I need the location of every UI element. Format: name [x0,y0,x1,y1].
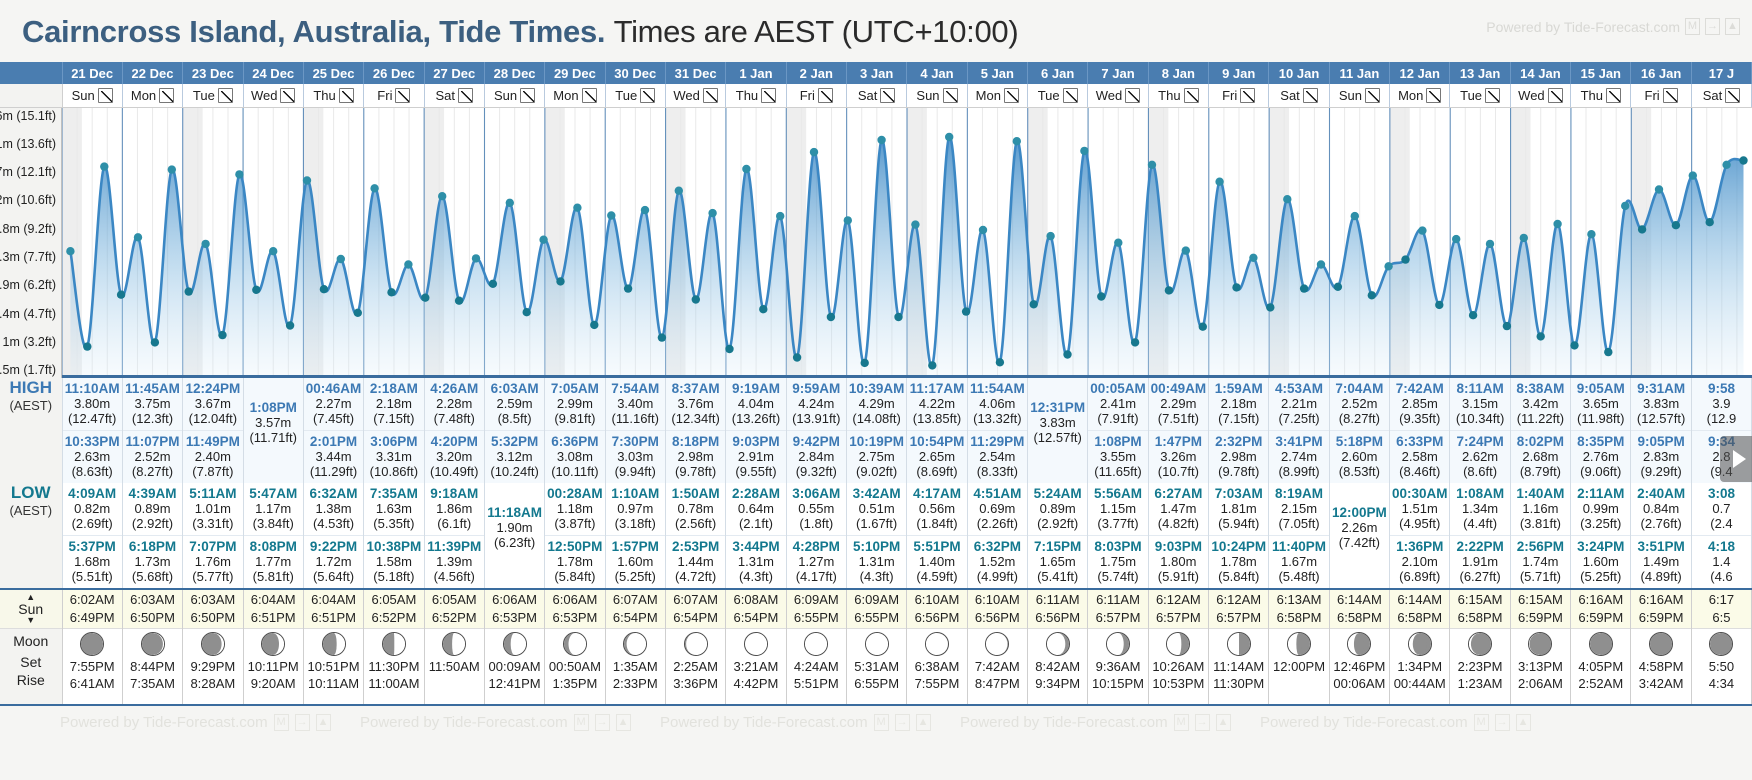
tide-event: 4:20PM3.20m(10.49ft) [425,430,484,483]
low-tide-cell-23[interactable]: 1:08AM1.34m(4.4ft)2:22PM1.91m(6.27ft) [1450,483,1510,589]
tide-height-ft: (3.31ft) [183,516,242,531]
high-tide-cell-18[interactable]: 00:49AM2.29m(7.51ft)1:47PM3.26m(10.7ft) [1148,378,1208,483]
date-header-4[interactable]: 25 Dec [303,62,363,84]
tide-event: 5:37PM1.68m(5.51ft) [63,535,122,588]
expand-icon[interactable] [520,88,535,103]
chart-plot-cell[interactable] [62,107,1752,378]
day-header-3[interactable]: Wed [243,84,303,107]
moon-phase-icon [925,632,949,656]
high-tide-cell-25[interactable]: 9:05AM3.65m(11.98ft)8:35PM2.76m(9.06ft) [1571,378,1631,483]
high-tide-cell-22[interactable]: 7:42AM2.85m(9.35ft)6:33PM2.58m(8.46ft) [1390,378,1450,483]
day-header-1[interactable]: Mon [122,84,182,107]
date-header-11[interactable]: 1 Jan [726,62,786,84]
low-tide-cell-5[interactable]: 7:35AM1.63m(5.35ft)10:38PM1.58m(5.18ft) [364,483,424,589]
expand-icon[interactable] [1485,88,1500,103]
tide-event: 5:32PM3.12m(10.24ft) [485,430,544,483]
sun-cell-6: 6:05AM6:52PM [424,589,484,629]
scroll-right-button[interactable] [1720,436,1752,482]
tide-time: 11:29PM [968,434,1027,449]
moonset-time: 00:50AM [545,658,604,675]
tide-event: 8:08PM1.77m(5.81ft) [244,535,303,588]
tide-height-ft: (12.47ft) [63,411,122,426]
tide-height-m: 1.86m [425,501,484,516]
low-tide-cell-0[interactable]: 4:09AM0.82m(2.69ft)5:37PM1.68m(5.51ft) [62,483,122,589]
tide-height-m: 2.85m [1390,396,1449,411]
tide-time: 9:19AM [726,381,785,396]
day-header-0[interactable]: Sun [62,84,122,107]
low-tide-cell-10[interactable]: 1:50AM0.78m(2.56ft)2:53PM1.44m(4.72ft) [665,483,725,589]
tide-time: 10:19PM [847,434,906,449]
moonrise-time: 1:23AM [1450,675,1509,692]
date-header-25[interactable]: 15 Jan [1571,62,1631,84]
moonrise-time: 2:06AM [1511,675,1570,692]
tide-time: 1:50AM [666,486,725,501]
tide-event: 2:28AM0.64m(2.1ft) [726,483,785,535]
moonrise-time: 10:11AM [304,675,363,692]
tide-height-ft: (5.77ft) [183,569,242,584]
expand-icon[interactable] [1548,88,1563,103]
high-tide-cell-15[interactable]: 11:54AM4.06m(13.32ft)11:29PM2.54m(8.33ft… [967,378,1027,483]
sun-cell-11: 6:08AM6:54PM [726,589,786,629]
tide-height-ft: (5.64ft) [304,569,363,584]
tide-event: 11:18AM1.90m(6.23ft) [485,483,544,554]
tide-event: 11:40PM1.67m(5.48ft) [1269,535,1328,588]
day-header-26[interactable]: Fri [1631,84,1691,107]
low-tide-cell-4[interactable]: 6:32AM1.38m(4.53ft)9:22PM1.72m(5.64ft) [303,483,363,589]
day-header-21[interactable]: Sun [1329,84,1389,107]
tide-event: 7:07PM1.76m(5.77ft) [183,535,242,588]
expand-icon[interactable] [458,88,473,103]
tide-event: 7:30PM3.03m(9.94ft) [606,430,665,483]
expand-icon[interactable] [1303,88,1318,103]
low-tide-cell-14[interactable]: 4:17AM0.56m(1.84ft)5:51PM1.40m(4.59ft) [907,483,967,589]
tide-time: 8:03PM [1088,539,1147,554]
tide-height-m: 3.20m [425,449,484,464]
high-tide-cell-16[interactable]: 12:31PM3.83m(12.57ft) [1028,378,1088,483]
date-header-17[interactable]: 7 Jan [1088,62,1148,84]
high-tide-cell-17[interactable]: 00:05AM2.41m(7.91ft)1:08PM3.55m(11.65ft) [1088,378,1148,483]
date-header-15[interactable]: 5 Jan [967,62,1027,84]
tide-height-ft: (7.87ft) [183,464,242,479]
tide-time: 6:27AM [1149,486,1208,501]
tide-event: 12:31PM3.83m(12.57ft) [1028,378,1087,449]
high-tide-cell-2[interactable]: 12:24PM3.67m(12.04ft)11:49PM2.40m(7.87ft… [183,378,243,483]
day-header-5[interactable]: Fri [364,84,424,107]
expand-icon[interactable] [640,88,655,103]
sunset-time: 6:53PM [545,609,604,627]
high-tide-cell-12[interactable]: 9:59AM4.24m(13.91ft)9:42PM2.84m(9.32ft) [786,378,846,483]
tide-time: 5:11AM [183,486,242,501]
watermark-icon-arrow: → [1195,714,1210,731]
expand-icon[interactable] [280,88,295,103]
tide-height-m: 2.91m [726,449,785,464]
y-axis-tick-0: 4.6m (15.1ft) [0,109,56,123]
low-tide-cell-22[interactable]: 00:30AM1.51m(4.95ft)1:36PM2.10m(6.89ft) [1390,483,1450,589]
sunset-time: 6:58PM [1450,609,1509,627]
tide-height-ft: (13.85ft) [907,411,966,426]
tide-event: 8:18PM2.98m(9.78ft) [666,430,725,483]
high-tide-cell-11[interactable]: 9:19AM4.04m(13.26ft)9:03PM2.91m(9.55ft) [726,378,786,483]
tide-event: 1:08PM3.57m(11.71ft) [244,378,303,449]
high-tide-cell-0[interactable]: 11:10AM3.80m(12.47ft)10:33PM2.63m(8.63ft… [62,378,122,483]
day-header-17[interactable]: Wed [1088,84,1148,107]
date-header-row: 21 Dec22 Dec23 Dec24 Dec25 Dec26 Dec27 D… [0,62,1752,84]
expand-icon[interactable] [218,88,233,103]
moon-phase-icon [1347,632,1371,656]
tide-event: 6:36PM3.08m(10.11ft) [545,430,604,483]
moonset-time: 10:51PM [304,658,363,675]
moonset-time: 2:23PM [1450,658,1509,675]
moon-cell-18: 10:26AM10:53PM [1148,629,1208,704]
tide-height-m: 2.98m [1209,449,1268,464]
high-tide-cell-26[interactable]: 9:31AM3.83m(12.57ft)9:05PM2.83m(9.29ft) [1631,378,1691,483]
tide-time: 00:05AM [1088,381,1147,396]
high-tide-cell-10[interactable]: 8:37AM3.76m(12.34ft)8:18PM2.98m(9.78ft) [665,378,725,483]
low-tide-cell-21[interactable]: 12:00PM2.26m(7.42ft) [1329,483,1389,589]
tide-height-m: 0.64m [726,501,785,516]
tide-height-ft: (5.25ft) [1571,569,1630,584]
expand-icon[interactable] [1063,88,1078,103]
tide-height-ft: (2.69ft) [63,516,122,531]
moon-cell-20: 12:00PM [1269,629,1329,704]
date-header-27[interactable]: 17 J [1691,62,1751,84]
high-tide-cell-1[interactable]: 11:45AM3.75m(12.3ft)11:07PM2.52m(8.27ft) [122,378,182,483]
tide-time: 3:41PM [1269,434,1328,449]
date-header-1[interactable]: 22 Dec [122,62,182,84]
date-header-7[interactable]: 28 Dec [484,62,544,84]
date-header-19[interactable]: 9 Jan [1209,62,1269,84]
tide-height-m: 2.75m [847,449,906,464]
day-header-19[interactable]: Fri [1209,84,1269,107]
sunset-time: 6:53PM [485,609,544,627]
date-header-14[interactable]: 4 Jan [907,62,967,84]
tide-time: 9:58 [1692,381,1751,396]
tide-time: 9:03PM [726,434,785,449]
day-name-label: Sun [1339,88,1362,103]
low-tide-label-unit: (AEST) [0,503,62,518]
tide-event: 1:59AM2.18m(7.15ft) [1209,378,1268,430]
tide-time: 4:20PM [425,434,484,449]
tide-height-ft: (4.53ft) [304,516,363,531]
low-tide-cell-20[interactable]: 8:19AM2.15m(7.05ft)11:40PM1.67m(5.48ft) [1269,483,1329,589]
tide-height-m: 2.59m [485,396,544,411]
low-tide-cell-26[interactable]: 2:40AM0.84m(2.76ft)3:51PM1.49m(4.89ft) [1631,483,1691,589]
header-watermark-text: Powered by Tide-Forecast.com [1486,19,1680,35]
tide-event: 4:26AM2.28m(7.48ft) [425,378,484,430]
high-tide-cell-8[interactable]: 7:05AM2.99m(9.81ft)6:36PM3.08m(10.11ft) [545,378,605,483]
date-header-21[interactable]: 11 Jan [1329,62,1389,84]
sunset-time: 6:49PM [63,609,122,627]
date-header-22[interactable]: 12 Jan [1390,62,1450,84]
tide-height-ft: (4.56ft) [425,569,484,584]
tide-height-m: 1.51m [1390,501,1449,516]
moon-phase-icon [1589,632,1613,656]
expand-icon[interactable] [1365,88,1380,103]
moon-cell-9: 1:35AM2:33PM [605,629,665,704]
tide-time: 12:31PM [1028,400,1087,415]
low-tide-cell-24[interactable]: 1:40AM1.16m(3.81ft)2:56PM1.74m(5.71ft) [1510,483,1570,589]
tide-event: 8:11AM3.15m(10.34ft) [1450,378,1509,430]
low-tide-cell-18[interactable]: 6:27AM1.47m(4.82ft)9:03PM1.80m(5.91ft) [1148,483,1208,589]
moon-cell-26: 4:58PM3:42AM [1631,629,1691,704]
low-tide-cell-25[interactable]: 2:11AM0.99m(3.25ft)3:24PM1.60m(5.25ft) [1571,483,1631,589]
high-tide-cell-20[interactable]: 4:53AM2.21m(7.25ft)3:41PM2.74m(8.99ft) [1269,378,1329,483]
high-tide-cell-4[interactable]: 00:46AM2.27m(7.45ft)2:01PM3.44m(11.29ft) [303,378,363,483]
date-header-26[interactable]: 16 Jan [1631,62,1691,84]
sun-cell-24: 6:15AM6:59PM [1510,589,1570,629]
day-header-24[interactable]: Wed [1510,84,1570,107]
moonrise-time: 3:42AM [1631,675,1690,692]
day-header-16[interactable]: Tue [1028,84,1088,107]
tide-height-m: 3.31m [364,449,423,464]
expand-icon[interactable] [1125,88,1140,103]
tide-event: 12:24PM3.67m(12.04ft) [183,378,242,430]
date-header-24[interactable]: 14 Jan [1510,62,1570,84]
tide-height-m: 1.77m [244,554,303,569]
high-tide-cell-19[interactable]: 1:59AM2.18m(7.15ft)2:32PM2.98m(9.78ft) [1209,378,1269,483]
tide-time: 5:24AM [1028,486,1087,501]
tide-height-ft: (2.1ft) [726,516,785,531]
tide-height-ft: (9.32ft) [787,464,846,479]
moon-cell-3: 10:11PM9:20AM [243,629,303,704]
tide-event: 10:33PM2.63m(8.63ft) [63,430,122,483]
tide-height-ft: (12.57ft) [1631,411,1690,426]
tide-event: 8:19AM2.15m(7.05ft) [1269,483,1328,535]
expand-icon[interactable] [818,88,833,103]
day-header-10[interactable]: Wed [665,84,725,107]
tide-height-ft: (8.63ft) [63,464,122,479]
moonset-time: 11:30PM [364,658,423,675]
high-tide-cell-24[interactable]: 8:38AM3.42m(11.22ft)8:02PM2.68m(8.79ft) [1510,378,1570,483]
moon-cell-27: 5:504:34 [1691,629,1751,704]
sunset-time: 6:57PM [1209,609,1268,627]
day-name-label: Mon [553,88,578,103]
moon-phase-icon [1166,632,1190,656]
sunset-time: 6:56PM [1028,609,1087,627]
tide-height-m: 0.69m [968,501,1027,516]
low-tide-cell-9[interactable]: 1:10AM0.97m(3.18ft)1:57PM1.60m(5.25ft) [605,483,665,589]
moonrise-time: 11:00AM [364,675,423,692]
day-header-22[interactable]: Mon [1390,84,1450,107]
tide-height-ft: (12.3ft) [123,411,182,426]
moonset-time: 7:42AM [968,658,1027,675]
day-header-4[interactable]: Thu [303,84,363,107]
sunrise-time: 6:06AM [485,591,544,609]
date-header-5[interactable]: 26 Dec [364,62,424,84]
expand-icon[interactable] [761,88,776,103]
day-header-2[interactable]: Tue [183,84,243,107]
day-name-label: Wed [1518,88,1545,103]
date-header-18[interactable]: 8 Jan [1148,62,1208,84]
tide-height-ft: (6.27ft) [1450,569,1509,584]
tide-time: 1:57PM [606,539,665,554]
day-header-23[interactable]: Tue [1450,84,1510,107]
tide-height-ft: (5.74ft) [1088,569,1147,584]
watermark-icon-m: M [274,714,289,731]
low-tide-cell-8[interactable]: 00:28AM1.18m(3.87ft)12:50PM1.78m(5.84ft) [545,483,605,589]
low-tide-cell-2[interactable]: 5:11AM1.01m(3.31ft)7:07PM1.76m(5.77ft) [183,483,243,589]
sunset-time: 6:57PM [1149,609,1208,627]
moon-phase-icon [442,632,466,656]
date-header-6[interactable]: 27 Dec [424,62,484,84]
tide-time: 2:11AM [1571,486,1630,501]
moon-phase-icon [563,632,587,656]
high-tide-cell-3[interactable]: 1:08PM3.57m(11.71ft) [243,378,303,483]
tide-height-m: 2.83m [1631,449,1690,464]
tide-height-m: 2.52m [1330,396,1389,411]
high-tide-cell-5[interactable]: 2:18AM2.18m(7.15ft)3:06PM3.31m(10.86ft) [364,378,424,483]
moon-cell-5: 11:30PM11:00AM [364,629,424,704]
day-name-label: Tue [1038,88,1060,103]
tide-height-ft: (9.35ft) [1390,411,1449,426]
tide-height-ft: (7.25ft) [1269,411,1328,426]
tide-height-ft: (8.27ft) [1330,411,1389,426]
tide-height-ft: (7.91ft) [1088,411,1147,426]
low-tide-cell-19[interactable]: 7:03AM1.81m(5.94ft)10:24PM1.78m(5.84ft) [1209,483,1269,589]
tide-height-ft: (8.27ft) [123,464,182,479]
moon-cell-14: 6:38AM7:55PM [907,629,967,704]
day-header-15[interactable]: Mon [967,84,1027,107]
day-header-20[interactable]: Sat [1269,84,1329,107]
low-tide-cell-1[interactable]: 4:39AM0.89m(2.92ft)6:18PM1.73m(5.68ft) [122,483,182,589]
tide-height-m: 1.44m [666,554,725,569]
moonset-time: 9:36AM [1088,658,1147,675]
moon-phase-icon [201,632,225,656]
tide-time: 12:50PM [545,539,604,554]
day-header-14[interactable]: Sun [907,84,967,107]
day-header-27[interactable]: Sat [1691,84,1751,107]
day-name-label: Wed [251,88,278,103]
tide-event: 3:06AM0.55m(1.8ft) [787,483,846,535]
tide-time: 7:04AM [1330,381,1389,396]
expand-icon[interactable] [1240,88,1255,103]
day-header-9[interactable]: Tue [605,84,665,107]
expand-icon[interactable] [703,88,718,103]
date-header-3[interactable]: 24 Dec [243,62,303,84]
date-header-8[interactable]: 29 Dec [545,62,605,84]
day-header-12[interactable]: Fri [786,84,846,107]
date-header-0[interactable]: 21 Dec [62,62,122,84]
expand-icon[interactable] [943,88,958,103]
expand-icon[interactable] [159,88,174,103]
moon-phase-icon [322,632,346,656]
date-header-20[interactable]: 10 Jan [1269,62,1329,84]
low-tide-cell-13[interactable]: 3:42AM0.51m(1.67ft)5:10PM1.31m(4.3ft) [846,483,906,589]
expand-icon[interactable] [98,88,113,103]
tide-height-m: 3.57m [244,415,303,430]
tide-height-ft: (7.45ft) [304,411,363,426]
expand-icon[interactable] [1004,88,1019,103]
watermark-icon-a: ▲ [916,714,931,731]
expand-icon[interactable] [395,88,410,103]
tide-height-m: 1.52m [968,554,1027,569]
low-tide-cell-11[interactable]: 2:28AM0.64m(2.1ft)3:44PM1.31m(4.3ft) [726,483,786,589]
chart-row: 4.6m (15.1ft)4.1m (13.6ft)3.7m (12.1ft)3… [0,107,1752,378]
high-tide-cell-14[interactable]: 11:17AM4.22m(13.85ft)10:54PM2.65m(8.69ft… [907,378,967,483]
tide-time: 4:39AM [123,486,182,501]
chart-y-axis-cell: 4.6m (15.1ft)4.1m (13.6ft)3.7m (12.1ft)3… [0,107,62,378]
low-tide-cell-16[interactable]: 5:24AM0.89m(2.92ft)7:15PM1.65m(5.41ft) [1028,483,1088,589]
tide-event: 00:05AM2.41m(7.91ft) [1088,378,1147,430]
day-header-8[interactable]: Mon [545,84,605,107]
moon-cell-13: 5:31AM6:55PM [846,629,906,704]
expand-icon[interactable] [1663,88,1678,103]
high-tide-cell-6[interactable]: 4:26AM2.28m(7.48ft)4:20PM3.20m(10.49ft) [424,378,484,483]
tide-event: 8:38AM3.42m(11.22ft) [1511,378,1570,430]
tide-event: 9:59AM4.24m(13.91ft) [787,378,846,430]
low-tide-cell-15[interactable]: 4:51AM0.69m(2.26ft)6:32PM1.52m(4.99ft) [967,483,1027,589]
expand-icon[interactable] [1426,88,1441,103]
day-name-label: Sun [916,88,939,103]
tide-height-m: 1.90m [485,520,544,535]
date-header-9[interactable]: 30 Dec [605,62,665,84]
day-name-label: Fri [1222,88,1237,103]
date-header-16[interactable]: 6 Jan [1028,62,1088,84]
expand-icon[interactable] [339,88,354,103]
moonset-time: 8:44PM [123,658,182,675]
low-tide-cell-3[interactable]: 5:47AM1.17m(3.84ft)8:08PM1.77m(5.81ft) [243,483,303,589]
sunrise-time: 6:09AM [787,591,846,609]
day-header-13[interactable]: Sat [846,84,906,107]
tide-event: 7:35AM1.63m(5.35ft) [364,483,423,535]
low-tide-cell-27[interactable]: 3:080.7(2.44:181.4(4.6 [1691,483,1751,589]
expand-icon[interactable] [880,88,895,103]
tide-height-m: 2.10m [1390,554,1449,569]
date-header-10[interactable]: 31 Dec [665,62,725,84]
footer-watermark-text: Powered by Tide-Forecast.com [360,714,568,731]
watermark-icon-m: M [574,714,589,731]
day-header-18[interactable]: Thu [1148,84,1208,107]
day-header-11[interactable]: Thu [726,84,786,107]
date-header-13[interactable]: 3 Jan [846,62,906,84]
expand-icon[interactable] [1725,88,1740,103]
tide-height-ft: (5.41ft) [1028,569,1087,584]
low-tide-cell-12[interactable]: 3:06AM0.55m(1.8ft)4:28PM1.27m(4.17ft) [786,483,846,589]
high-tide-cell-21[interactable]: 7:04AM2.52m(8.27ft)5:18PM2.60m(8.53ft) [1329,378,1389,483]
tide-height-ft: (4.82ft) [1149,516,1208,531]
date-header-2[interactable]: 23 Dec [183,62,243,84]
day-header-7[interactable]: Sun [484,84,544,107]
moonset-time: 10:26AM [1149,658,1208,675]
low-tide-cell-17[interactable]: 5:56AM1.15m(3.77ft)8:03PM1.75m(5.74ft) [1088,483,1148,589]
expand-icon[interactable] [582,88,597,103]
day-header-6[interactable]: Sat [424,84,484,107]
date-header-12[interactable]: 2 Jan [786,62,846,84]
date-header-23[interactable]: 13 Jan [1450,62,1510,84]
chart-plot-area[interactable] [62,108,1752,378]
high-tide-cell-7[interactable]: 6:03AM2.59m(8.5ft)5:32PM3.12m(10.24ft) [484,378,544,483]
sunrise-time: 6:03AM [123,591,182,609]
sunrise-time: 6:14AM [1390,591,1449,609]
sunrise-time: 6:10AM [907,591,966,609]
expand-icon[interactable] [1184,88,1199,103]
moon-set-label: Set [0,653,62,671]
moonset-time: 00:09AM [485,658,544,675]
day-header-25[interactable]: Thu [1571,84,1631,107]
moonrise-time: 6:55PM [847,675,906,692]
low-tide-cell-6[interactable]: 9:18AM1.86m(6.1ft)11:39PM1.39m(4.56ft) [424,483,484,589]
tide-height-m: 0.99m [1571,501,1630,516]
watermark-icon-m: M [1474,714,1489,731]
tide-event: 00:46AM2.27m(7.45ft) [304,378,363,430]
high-tide-cell-9[interactable]: 7:54AM3.40m(11.16ft)7:30PM3.03m(9.94ft) [605,378,665,483]
sun-label-text: Sun [0,602,62,616]
tide-height-m: 2.41m [1088,396,1147,411]
expand-icon[interactable] [1606,88,1621,103]
low-tide-cell-7[interactable]: 11:18AM1.90m(6.23ft) [484,483,544,589]
high-tide-cell-13[interactable]: 10:39AM4.29m(14.08ft)10:19PM2.75m(9.02ft… [846,378,906,483]
high-tide-cell-23[interactable]: 8:11AM3.15m(10.34ft)7:24PM2.62m(8.6ft) [1450,378,1510,483]
